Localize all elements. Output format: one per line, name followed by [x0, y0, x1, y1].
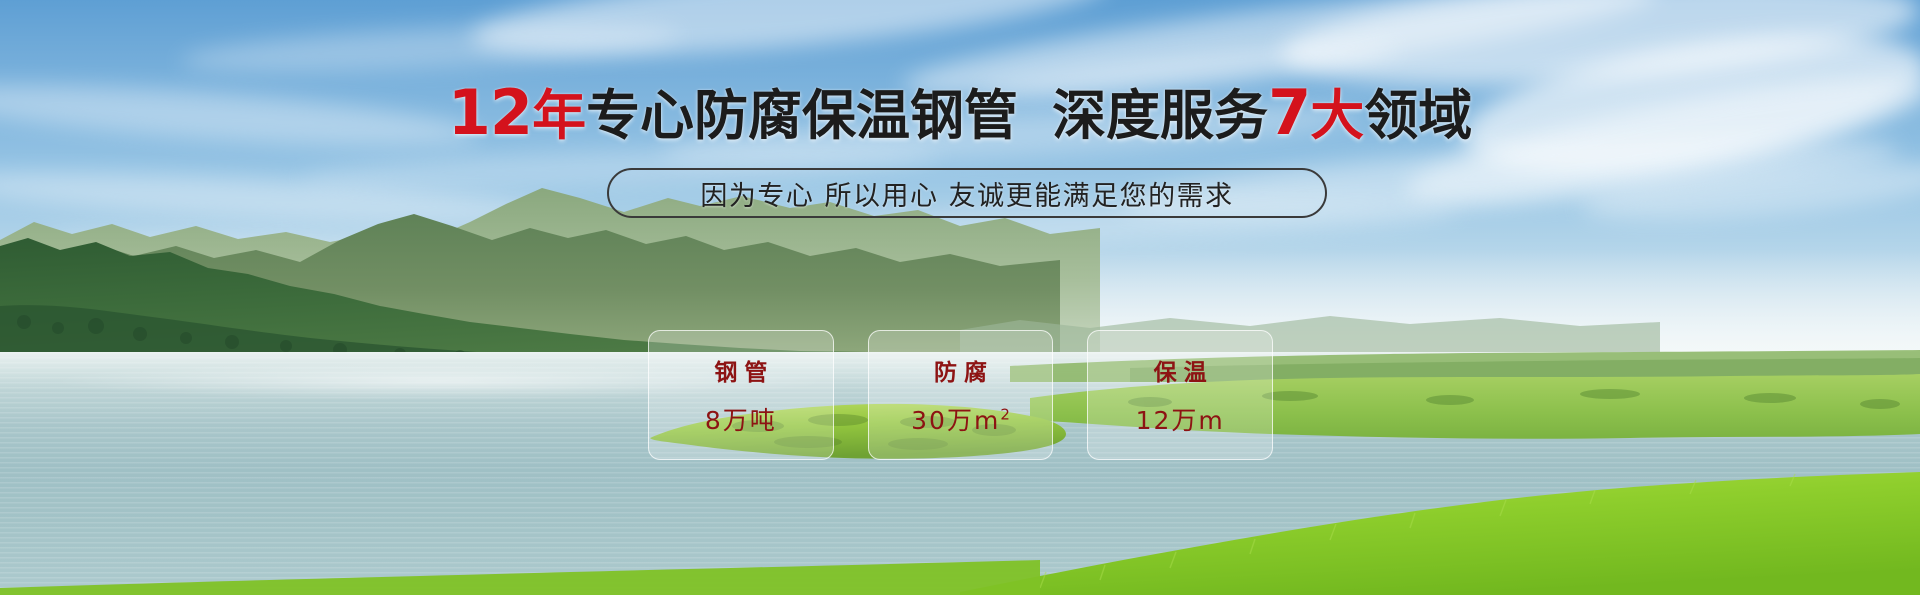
headline-phrase-two-lead: 深度服务 [1052, 84, 1268, 147]
headline-fields-unit: 大 [1310, 84, 1364, 147]
headline-fields-number: 7 [1268, 76, 1310, 149]
stat-label: 保温 [1147, 353, 1214, 387]
headline-phrase-one: 专心防腐保温钢管 [586, 84, 1018, 147]
cloud-streak-icon [179, 15, 680, 81]
stat-value-text: 30万m [911, 406, 1000, 435]
stat-label: 防腐 [927, 353, 994, 387]
cloud-streak-icon [468, 0, 1112, 74]
stat-value-text: 12万m [1136, 406, 1225, 435]
stat-card-insulation[interactable]: 保温 12万m [1087, 330, 1273, 460]
stat-value: 12万m [1136, 401, 1225, 437]
headline-years-unit: 年 [532, 84, 586, 147]
stat-value-superscript: 2 [1000, 406, 1010, 424]
stat-label: 钢管 [707, 353, 774, 387]
stat-card-group: 钢管 8万吨 防腐 30万m2 保温 12万m [648, 330, 1273, 460]
hero-banner: 12年专心防腐保温钢管深度服务7大领域 因为专心 所以用心 友诚更能满足您的需求… [0, 0, 1920, 595]
stat-card-steel-pipe[interactable]: 钢管 8万吨 [648, 330, 834, 460]
stat-value: 8万吨 [705, 401, 777, 437]
subtitle-pill: 因为专心 所以用心 友诚更能满足您的需求 [607, 168, 1327, 218]
headline-phrase-two-tail: 领域 [1364, 84, 1472, 147]
cloud-streak-icon [0, 162, 561, 234]
stat-value-text: 8万吨 [705, 406, 777, 435]
headline-years-number: 12 [448, 76, 532, 149]
cloud-streak-icon [1579, 152, 1920, 231]
banner-headline: 12年专心防腐保温钢管深度服务7大领域 [0, 82, 1920, 147]
cloud-streak-icon [40, 224, 741, 278]
stat-card-anticorrosion[interactable]: 防腐 30万m2 [868, 330, 1054, 460]
subtitle-text: 因为专心 所以用心 友诚更能满足您的需求 [700, 174, 1233, 213]
stat-value: 30万m2 [911, 401, 1010, 437]
